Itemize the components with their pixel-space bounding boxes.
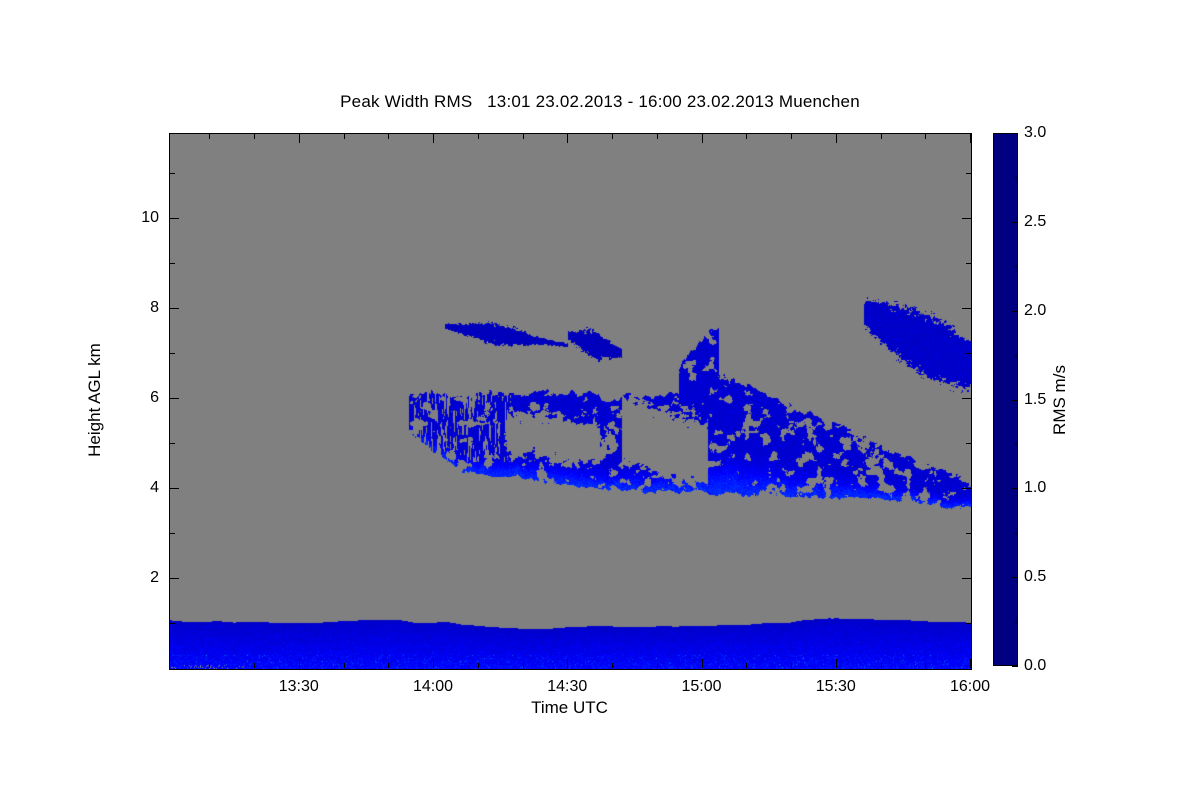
y-tick-left [170, 533, 175, 534]
y-tick-right [966, 443, 971, 444]
plot-title: Peak Width RMS 13:01 23.02.2013 - 16:00 … [0, 92, 1200, 112]
colorbar-tick-label: 2.5 [1024, 213, 1046, 231]
colorbar-minor-tick [1015, 266, 1018, 267]
colorbar-minor-tick [1015, 355, 1018, 356]
colorbar-minor-tick [1015, 444, 1018, 445]
y-tick-right [966, 623, 971, 624]
colorbar-tick-label: 0.0 [1024, 657, 1046, 675]
x-tick-bottom [433, 659, 434, 668]
y-tick-right [966, 173, 971, 174]
colorbar-tick [1012, 311, 1018, 312]
x-tick-bottom [478, 663, 479, 668]
x-tick-bottom [970, 659, 971, 668]
x-tick-bottom [523, 663, 524, 668]
y-tick-label: 8 [129, 299, 159, 317]
x-tick-top [299, 134, 300, 143]
x-tick-top [657, 134, 658, 139]
y-tick-left [170, 443, 175, 444]
x-tick-bottom [836, 659, 837, 668]
x-tick-bottom [612, 663, 613, 668]
y-tick-label: 2 [129, 569, 159, 587]
colorbar-tick-label: 0.5 [1024, 568, 1046, 586]
x-tick-top [925, 134, 926, 139]
y-tick-label: 10 [129, 209, 159, 227]
x-tick-top [791, 134, 792, 139]
x-tick-bottom [254, 663, 255, 668]
x-tick-bottom [925, 663, 926, 668]
colorbar-minor-tick [1015, 622, 1018, 623]
colorbar-label: RMS m/s [1050, 365, 1070, 435]
plot-area [169, 133, 972, 670]
x-tick-bottom [702, 659, 703, 668]
x-tick-top [478, 134, 479, 139]
y-tick-right [966, 533, 971, 534]
y-tick-left [170, 578, 179, 579]
x-tick-top [881, 134, 882, 139]
colorbar-tick-label: 1.5 [1024, 391, 1046, 409]
colorbar-tick [1012, 400, 1018, 401]
x-tick-label: 15:00 [681, 678, 721, 696]
y-tick-right [962, 578, 971, 579]
y-tick-right [962, 218, 971, 219]
x-tick-label: 16:00 [950, 678, 990, 696]
heatmap-canvas [170, 134, 971, 669]
colorbar-minor-tick [1015, 177, 1018, 178]
x-tick-bottom [567, 659, 568, 668]
y-axis-label: Height AGL km [85, 343, 105, 457]
x-tick-top [746, 134, 747, 139]
y-tick-left [170, 173, 175, 174]
y-tick-left [170, 398, 179, 399]
y-tick-left [170, 488, 179, 489]
colorbar-minor-tick [1015, 533, 1018, 534]
colorbar-tick [1012, 133, 1018, 134]
x-tick-top [567, 134, 568, 143]
x-tick-bottom [209, 663, 210, 668]
y-tick-right [962, 308, 971, 309]
y-tick-right [962, 398, 971, 399]
colorbar-tick-label: 1.0 [1024, 479, 1046, 497]
colorbar-tick-label: 2.0 [1024, 302, 1046, 320]
x-tick-top [344, 134, 345, 139]
x-tick-bottom [388, 663, 389, 668]
colorbar-tick [1012, 222, 1018, 223]
colorbar-tick [1012, 577, 1018, 578]
x-tick-top [523, 134, 524, 139]
x-tick-top [254, 134, 255, 139]
y-tick-left [170, 353, 175, 354]
x-tick-bottom [657, 663, 658, 668]
y-tick-label: 4 [129, 479, 159, 497]
y-tick-left [170, 218, 179, 219]
x-tick-label: 15:30 [816, 678, 856, 696]
x-tick-top [209, 134, 210, 139]
x-tick-top [702, 134, 703, 143]
y-tick-right [966, 353, 971, 354]
y-tick-left [170, 623, 175, 624]
x-tick-top [612, 134, 613, 139]
x-tick-bottom [344, 663, 345, 668]
y-tick-right [966, 263, 971, 264]
y-tick-left [170, 308, 179, 309]
x-tick-top [388, 134, 389, 139]
y-tick-label: 6 [129, 389, 159, 407]
x-tick-label: 14:30 [547, 678, 587, 696]
y-tick-left [170, 263, 175, 264]
colorbar-tick-label: 3.0 [1024, 124, 1046, 142]
x-tick-label: 14:00 [413, 678, 453, 696]
x-tick-bottom [746, 663, 747, 668]
x-axis-label: Time UTC [169, 698, 970, 718]
x-tick-bottom [881, 663, 882, 668]
colorbar-tick [1012, 488, 1018, 489]
x-tick-top [970, 134, 971, 143]
x-tick-top [433, 134, 434, 143]
x-tick-label: 13:30 [279, 678, 319, 696]
x-tick-bottom [791, 663, 792, 668]
colorbar-tick [1012, 666, 1018, 667]
x-tick-top [836, 134, 837, 143]
x-tick-bottom [299, 659, 300, 668]
y-tick-right [962, 488, 971, 489]
figure-canvas: Peak Width RMS 13:01 23.02.2013 - 16:00 … [0, 0, 1200, 800]
